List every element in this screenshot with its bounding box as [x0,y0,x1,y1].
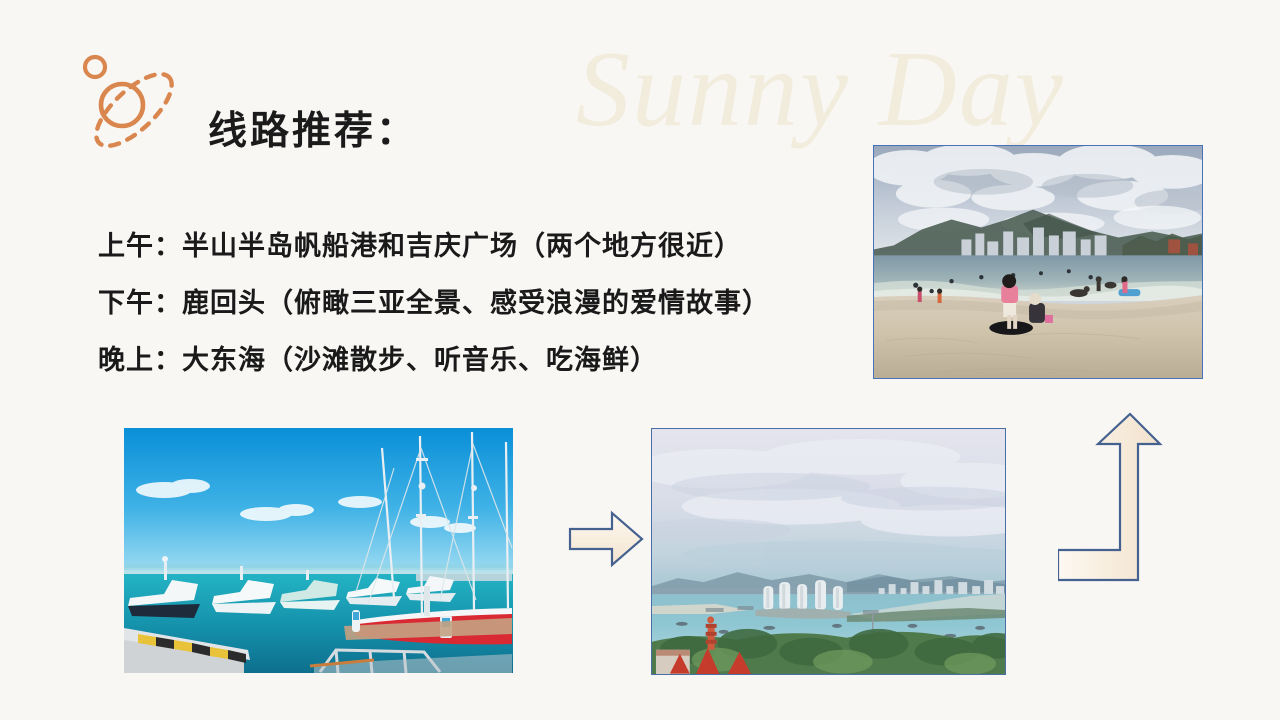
photo-marina [124,428,513,673]
itinerary-list: 上午：半山半岛帆船港和吉庆广场（两个地方很近） 下午：鹿回头（俯瞰三亚全景、感受… [98,218,888,389]
page-title: 线路推荐： [208,100,418,156]
slide-canvas: Sunny Day 线路推荐： 上午：半山半岛帆船港和吉庆广场（两个地方很近） … [0,0,1280,720]
photo-beach [873,145,1203,379]
photo-panorama [651,428,1006,675]
arrow-elbow-up-icon [1058,412,1163,610]
itinerary-line-afternoon: 下午：鹿回头（俯瞰三亚全景、感受浪漫的爱情故事） [98,275,888,332]
itinerary-line-morning: 上午：半山半岛帆船港和吉庆广场（两个地方很近） [98,218,888,275]
itinerary-line-evening: 晚上：大东海（沙滩散步、听音乐、吃海鲜） [98,332,888,389]
watermark-text: Sunny Day [576,36,1280,144]
planet-orbit-icon [72,46,196,164]
arrow-right-icon [568,508,644,570]
